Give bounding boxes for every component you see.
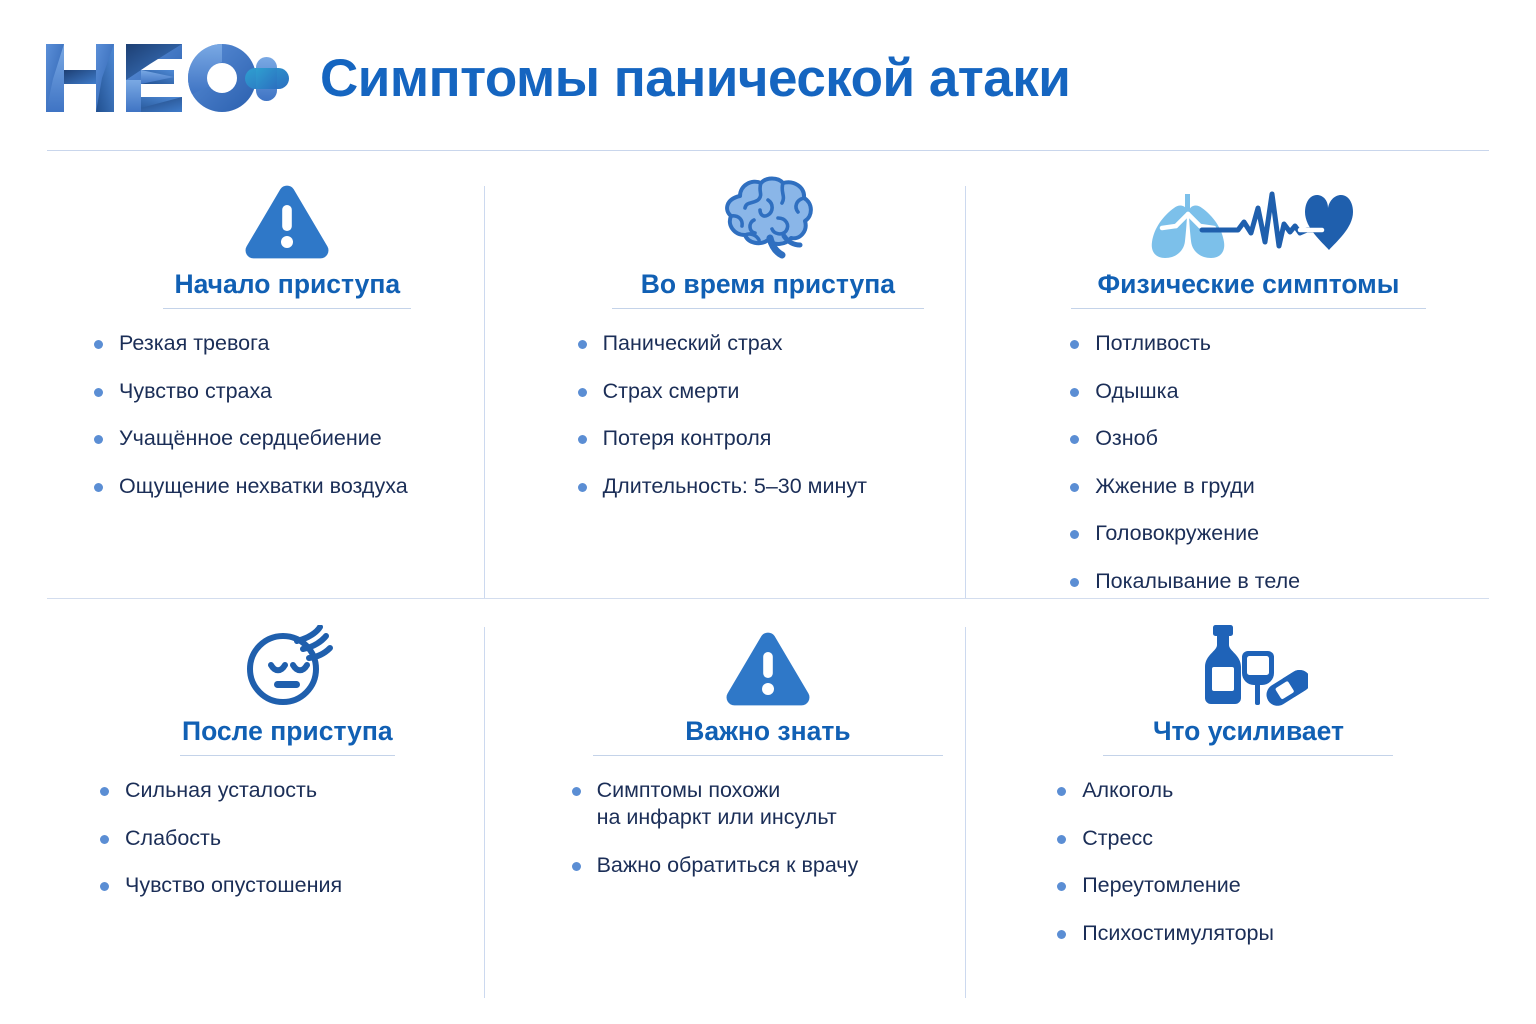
card-nachalo-pristupa: Начало приступа Резкая тревога Чувство с… — [47, 168, 528, 598]
card-title-underline — [1103, 755, 1393, 756]
list-item: Головокружение — [1068, 520, 1259, 547]
list-item: Стресс — [1055, 825, 1153, 852]
list-item: Жжение в груди — [1068, 473, 1255, 500]
warning-triangle-icon — [244, 184, 330, 260]
card-title-underline — [612, 308, 924, 309]
list-item: Симптомы похожина инфаркт или инсульт — [570, 777, 837, 831]
card-icon — [241, 615, 333, 707]
list-item: Переутомление — [1055, 872, 1241, 899]
card-title: Физические симптомы — [1098, 270, 1400, 299]
card-title: Во время приступа — [641, 270, 895, 299]
card-icon — [716, 168, 820, 260]
cards-row-top: Начало приступа Резкая тревога Чувство с… — [47, 168, 1489, 598]
list-item: Психостимуляторы — [1055, 920, 1274, 947]
list-item: Панический страх — [576, 330, 783, 357]
list-item: Покалывание в теле — [1068, 568, 1300, 595]
list-item-line: на инфаркт или инсульт — [597, 804, 837, 831]
list-item: Учащённое сердцебиение — [92, 425, 382, 452]
cards-grid: Начало приступа Резкая тревога Чувство с… — [47, 168, 1489, 998]
card-title: Что усиливает — [1153, 717, 1344, 746]
symptom-list: Алкоголь Стресс Переутомление Психостиму… — [1005, 777, 1492, 947]
list-item-line: Симптомы похожи — [597, 777, 837, 804]
card-icon — [1188, 615, 1308, 707]
list-item: Потливость — [1068, 330, 1211, 357]
header-divider — [47, 150, 1489, 151]
card-vazhno-znat: Важно знать Симптомы похожина инфаркт ил… — [528, 615, 1009, 998]
bottle-glass-pill-icon — [1188, 623, 1308, 707]
list-item: Слабость — [98, 825, 221, 852]
card-title-underline — [593, 755, 943, 756]
header: Симптомы панической атаки — [0, 0, 1536, 150]
list-item: Озноб — [1068, 425, 1158, 452]
list-item: Чувство страха — [92, 378, 272, 405]
neo-plus-logo — [40, 34, 290, 120]
symptom-list: Резкая тревога Чувство страха Учащённое … — [46, 330, 529, 500]
list-item: Важно обратиться к врачу — [570, 852, 859, 879]
card-chto-usilivaet: Что усиливает Алкоголь Стресс Переутомле… — [1008, 615, 1489, 998]
symptom-list: Потливость Одышка Озноб Жжение в груди Г… — [992, 330, 1505, 595]
list-item: Сильная усталость — [98, 777, 317, 804]
brain-icon — [716, 174, 820, 260]
page-title: Симптомы панической атаки — [320, 52, 1070, 105]
symptom-list: Симптомы похожина инфаркт или инсульт Ва… — [530, 777, 1007, 879]
list-item: Ощущение нехватки воздуха — [92, 473, 408, 500]
list-item: Резкая тревога — [92, 330, 269, 357]
list-item: Потеря контроля — [576, 425, 772, 452]
lungs-ecg-heart-icon — [1132, 186, 1364, 260]
list-item: Чувство опустошения — [98, 872, 342, 899]
card-title: Важно знать — [685, 717, 850, 746]
card-title-underline — [163, 308, 411, 309]
list-item: Страх смерти — [576, 378, 740, 405]
infographic-poster: Симптомы панической атаки Нач — [0, 0, 1536, 1024]
card-icon — [1132, 168, 1364, 260]
symptom-list: Сильная усталость Слабость Чувство опуст… — [40, 777, 535, 899]
card-vo-vremya-pristupa: Во время приступа Панический страх Страх… — [528, 168, 1009, 598]
card-fizicheskie-simptomy: Физические симптомы Потливость Одышка Оз… — [1008, 168, 1489, 598]
warning-triangle-icon — [725, 631, 811, 707]
card-icon — [244, 168, 330, 260]
card-icon — [725, 615, 811, 707]
list-item: Алкоголь — [1055, 777, 1173, 804]
cards-row-bottom: После приступа Сильная усталость Слабост… — [47, 615, 1489, 998]
list-item: Одышка — [1068, 378, 1178, 405]
symptom-list: Панический страх Страх смерти Потеря кон… — [524, 330, 1013, 500]
card-title: После приступа — [182, 717, 393, 746]
row-divider — [47, 598, 1489, 599]
card-title: Начало приступа — [174, 270, 400, 299]
card-posle-pristupa: После приступа Сильная усталость Слабост… — [47, 615, 528, 998]
list-item: Длительность: 5–30 минут — [576, 473, 867, 500]
card-title-underline — [1071, 308, 1426, 309]
tired-face-icon — [241, 625, 333, 707]
card-title-underline — [180, 755, 395, 756]
